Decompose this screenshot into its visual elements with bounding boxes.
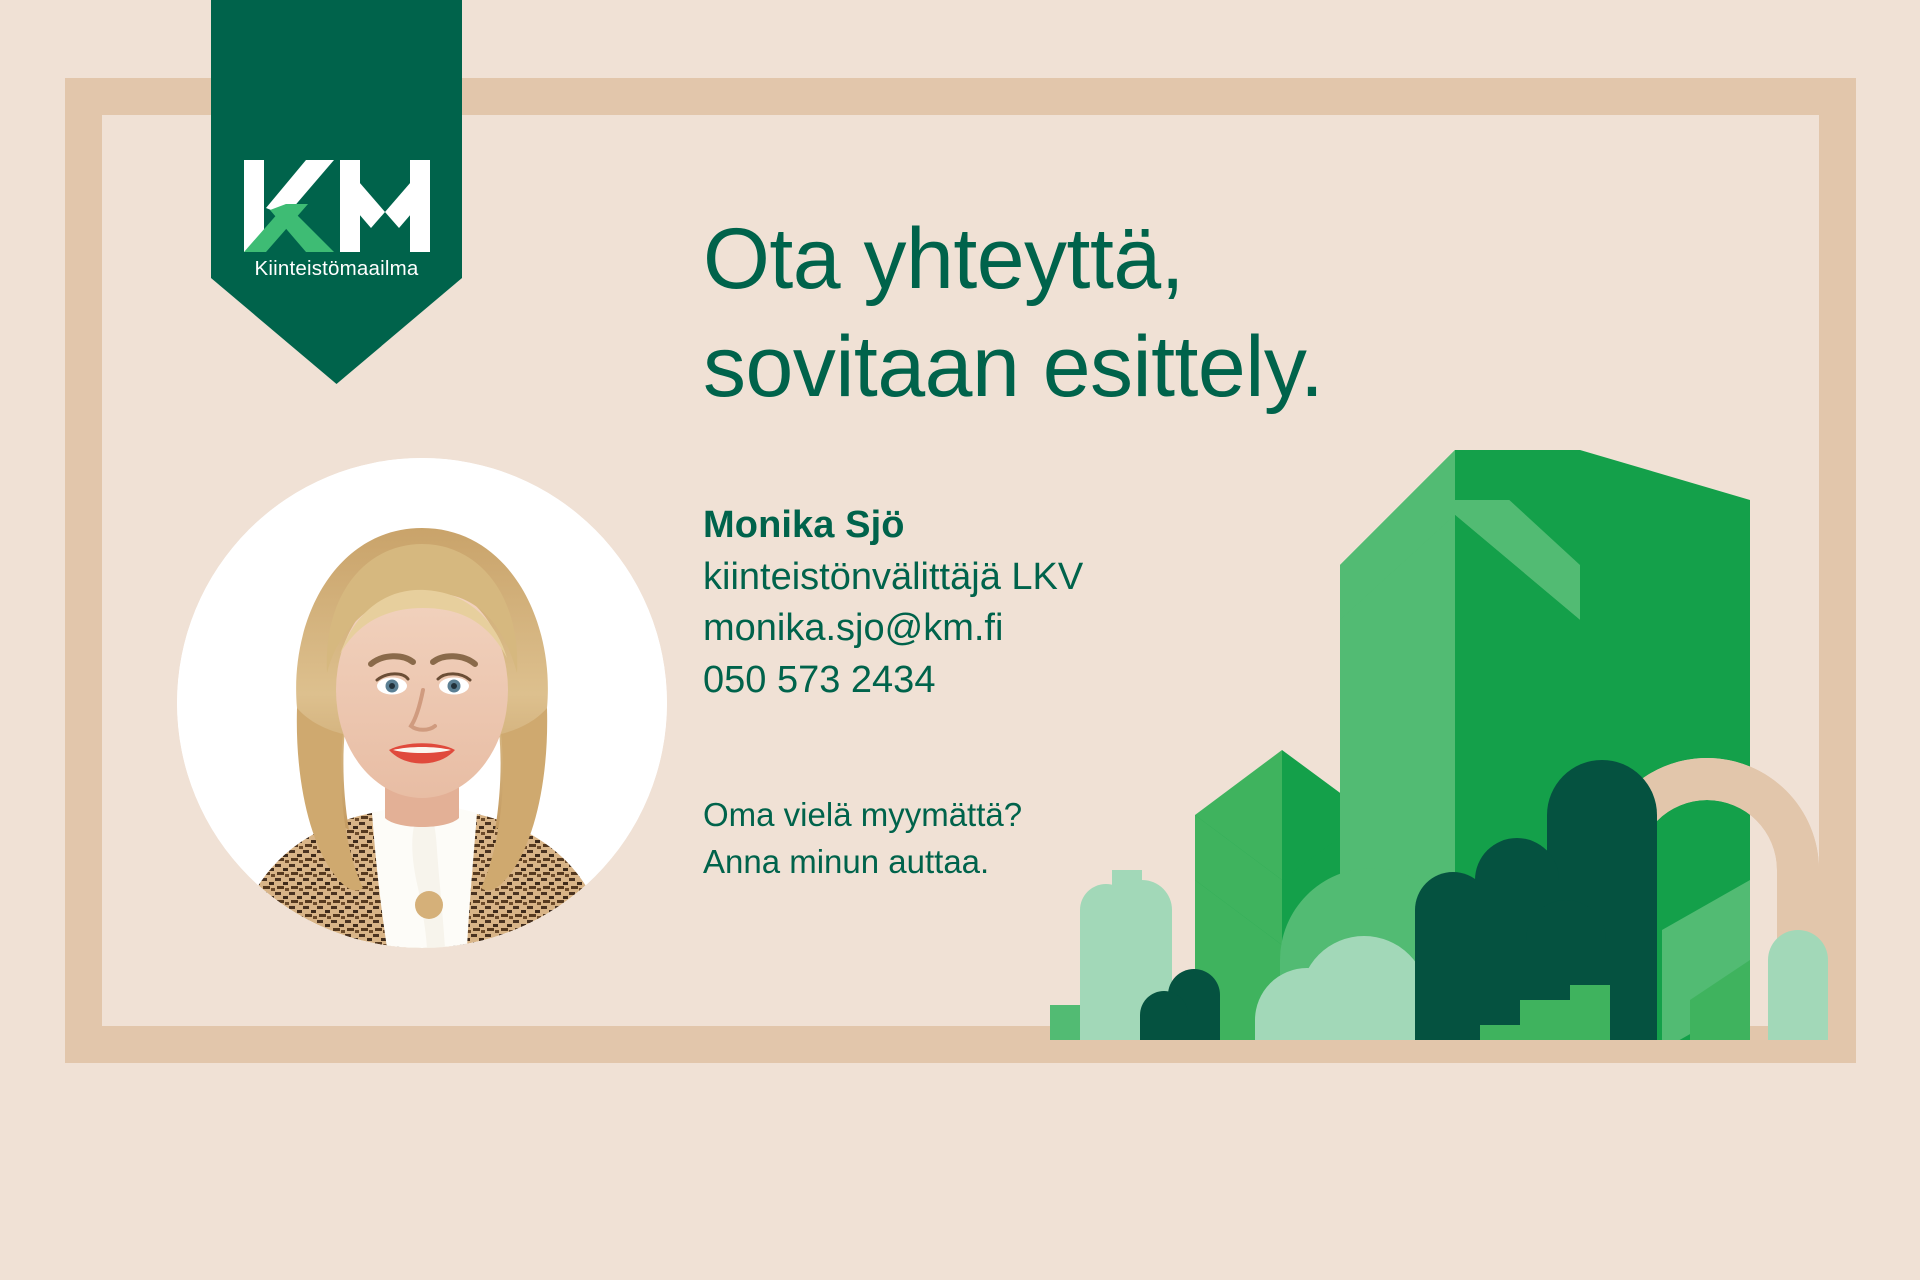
tagline-block: Oma vielä myymättä? Anna minun auttaa. <box>703 792 1022 886</box>
tagline-line-1: Oma vielä myymättä? <box>703 792 1022 839</box>
agent-name: Monika Sjö <box>703 500 1083 552</box>
km-logo: Kiinteistömaailma <box>244 160 430 281</box>
headline-line-2: sovitaan esittely. <box>703 313 1323 421</box>
tagline-line-2: Anna minun auttaa. <box>703 839 1022 886</box>
agent-email[interactable]: monika.sjo@km.fi <box>703 603 1083 655</box>
agent-phone[interactable]: 050 573 2434 <box>703 655 1083 707</box>
contact-card: Kiinteistömaailma <box>0 0 1920 1280</box>
agent-contact-block: Monika Sjö kiinteistönvälittäjä LKV moni… <box>703 500 1083 707</box>
agent-portrait-illustration <box>177 458 667 948</box>
avatar <box>177 458 667 948</box>
page-title: Ota yhteyttä, sovitaan esittely. <box>703 205 1323 422</box>
headline-line-1: Ota yhteyttä, <box>703 205 1323 313</box>
km-monogram-icon <box>244 160 430 252</box>
agent-title: kiinteistönvälittäjä LKV <box>703 552 1083 604</box>
km-wordmark: Kiinteistömaailma <box>244 257 430 281</box>
green-houses-and-trees-illustration <box>1050 440 1840 1048</box>
